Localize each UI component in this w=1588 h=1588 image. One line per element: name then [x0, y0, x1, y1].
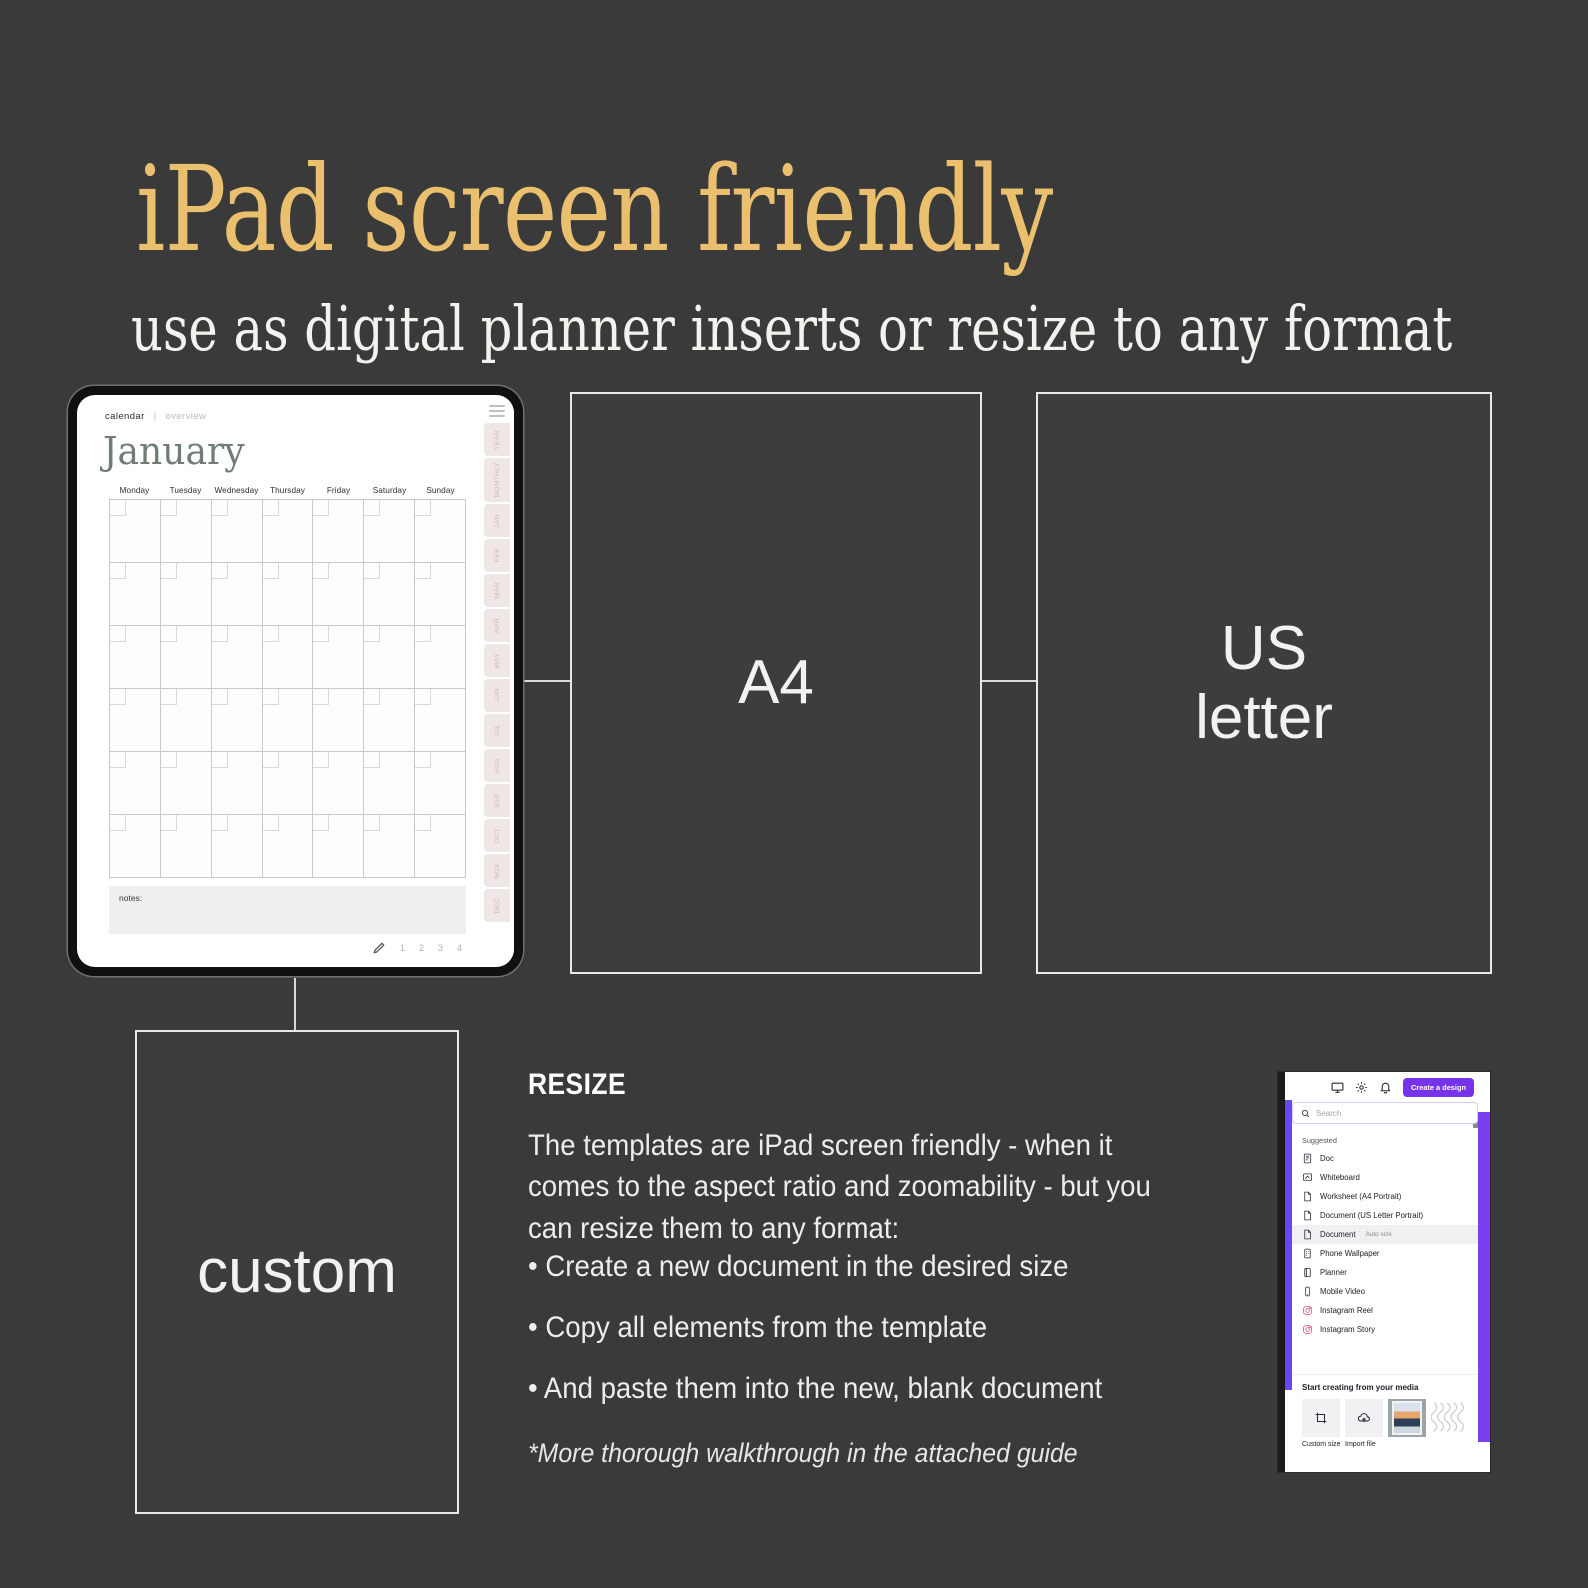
- month-tab-apr[interactable]: APR: [484, 609, 510, 642]
- list-item[interactable]: Document (US Letter Portrait): [1292, 1206, 1478, 1225]
- pencil-icon[interactable]: [372, 941, 386, 955]
- calendar-day-cell[interactable]: [212, 815, 263, 878]
- canva-app-window: Create a design Search Suggested DocWhit…: [1278, 1072, 1490, 1472]
- resize-paragraph: The templates are iPad screen friendly -…: [528, 1125, 1172, 1249]
- weekday-header-row: Monday Tuesday Wednesday Thursday Friday…: [109, 486, 466, 495]
- weekday-label: Monday: [109, 486, 160, 495]
- month-title: January: [103, 432, 452, 470]
- weekday-label: Thursday: [262, 486, 313, 495]
- breadcrumb-separator: |: [154, 411, 157, 422]
- media-thumbnails: [1302, 1399, 1478, 1437]
- calendar-day-cell[interactable]: [313, 563, 364, 626]
- connector-a4-to-usletter: [978, 680, 1038, 682]
- list-item-label: Doc: [1320, 1154, 1334, 1163]
- canva-toolbar: Create a design: [1292, 1072, 1478, 1102]
- whiteboard-icon: [1302, 1172, 1313, 1183]
- calendar-day-cell[interactable]: [364, 563, 415, 626]
- month-tab-label: MAY: [494, 653, 501, 668]
- list-item-label: Document (US Letter Portrait): [1320, 1211, 1423, 1220]
- ipad-screen: calendar | overview January Monday Tuesd…: [77, 395, 514, 967]
- hamburger-menu-icon[interactable]: [489, 405, 505, 417]
- calendar-day-cell[interactable]: [415, 500, 466, 563]
- calendar-day-cell[interactable]: [212, 689, 263, 752]
- connector-ipad-to-a4: [523, 680, 572, 682]
- calendar-day-cell[interactable]: [263, 815, 314, 878]
- format-box-custom[interactable]: custom: [135, 1030, 459, 1514]
- list-item-sublabel: Auto size: [1366, 1231, 1392, 1238]
- list-item-label: Instagram Reel: [1320, 1306, 1373, 1315]
- search-input[interactable]: Search: [1292, 1102, 1478, 1124]
- weekday-label: Tuesday: [160, 486, 211, 495]
- month-tab-label: MAR: [494, 582, 501, 598]
- calendar-day-cell[interactable]: [161, 563, 212, 626]
- month-tab-year[interactable]: YEAR: [484, 423, 510, 456]
- photo-preview: [1392, 1401, 1422, 1435]
- list-item[interactable]: Planner: [1292, 1263, 1478, 1282]
- calendar-day-cell[interactable]: [161, 500, 212, 563]
- canva-left-accent-bar: [1285, 1100, 1292, 1390]
- calendar-day-cell[interactable]: [263, 689, 314, 752]
- calendar-day-cell[interactable]: [161, 752, 212, 815]
- media-photo-thumbnail[interactable]: [1388, 1399, 1426, 1437]
- wallpaper-icon: [1302, 1248, 1313, 1259]
- search-icon: [1301, 1109, 1310, 1118]
- planner-icon: [1302, 1267, 1313, 1278]
- list-item-label: Instagram Story: [1320, 1325, 1375, 1334]
- resize-heading: RESIZE: [528, 1068, 626, 1102]
- planner-page: calendar | overview January Monday Tuesd…: [77, 395, 480, 967]
- month-tab-label: OCT: [494, 828, 501, 843]
- page-icon: [1302, 1210, 1313, 1221]
- section-label: Suggested: [1292, 1133, 1478, 1149]
- calendar-day-cell[interactable]: [161, 689, 212, 752]
- weekday-label: Friday: [313, 486, 364, 495]
- doc-icon: [1302, 1153, 1313, 1164]
- page-number[interactable]: 2: [419, 943, 424, 953]
- weekday-label: Wednesday: [211, 486, 262, 495]
- month-tab-label: MONTHLY: [494, 462, 501, 497]
- page-number[interactable]: 3: [438, 943, 443, 953]
- month-tab-monthly[interactable]: MONTHLY: [484, 458, 510, 502]
- list-item: • And paste them into the new, blank doc…: [528, 1374, 1227, 1404]
- calendar-day-cell[interactable]: [415, 689, 466, 752]
- month-tab-aug[interactable]: AUG: [484, 749, 510, 782]
- resize-bullet-list: • Create a new document in the desired s…: [528, 1252, 1288, 1435]
- month-tab-label: APR: [494, 618, 501, 633]
- instagram-icon: [1302, 1305, 1313, 1316]
- month-tab-label: FEB: [494, 548, 501, 562]
- media-section-title: Start creating from your media: [1302, 1383, 1478, 1392]
- month-tab-jul[interactable]: JUL: [484, 714, 510, 747]
- list-item[interactable]: Doc: [1292, 1149, 1478, 1168]
- media-action-labels: Custom size Import file: [1302, 1441, 1478, 1448]
- month-tab-sep[interactable]: SEP: [484, 784, 510, 817]
- list-item-label: Worksheet (A4 Portrait): [1320, 1192, 1401, 1201]
- list-item[interactable]: Worksheet (A4 Portrait): [1292, 1187, 1478, 1206]
- calendar-day-cell[interactable]: [110, 689, 161, 752]
- month-tab-mar[interactable]: MAR: [484, 574, 510, 607]
- month-tab-label: SEP: [494, 793, 501, 808]
- list-item-label: Document: [1320, 1230, 1356, 1239]
- calendar-day-cell[interactable]: [263, 500, 314, 563]
- calendar-day-cell[interactable]: [110, 752, 161, 815]
- format-label-us-line2: letter: [1195, 683, 1333, 752]
- calendar-day-cell[interactable]: [110, 815, 161, 878]
- month-tab-jan[interactable]: JAN: [484, 504, 510, 537]
- calendar-grid: [109, 499, 466, 878]
- calendar-day-cell[interactable]: [263, 752, 314, 815]
- breadcrumb-secondary[interactable]: overview: [166, 411, 207, 422]
- format-label-us-line1: US: [1195, 614, 1333, 683]
- suggested-list: Suggested DocWhiteboardWorksheet (A4 Por…: [1292, 1128, 1478, 1374]
- list-item[interactable]: Phone Wallpaper: [1292, 1244, 1478, 1263]
- calendar-day-cell[interactable]: [263, 563, 314, 626]
- ipad-mockup: calendar | overview January Monday Tuesd…: [68, 386, 523, 976]
- calendar-day-cell[interactable]: [415, 752, 466, 815]
- connector-ipad-to-custom: [294, 978, 296, 1032]
- calendar-day-cell[interactable]: [415, 815, 466, 878]
- notes-box[interactable]: notes:: [109, 886, 466, 934]
- media-section: Start creating from your media: [1292, 1374, 1478, 1472]
- calendar-day-cell[interactable]: [415, 626, 466, 689]
- breadcrumb-primary[interactable]: calendar: [105, 411, 145, 422]
- list-item: • Create a new document in the desired s…: [528, 1252, 1227, 1282]
- format-box-a4[interactable]: A4: [570, 392, 982, 974]
- poster-canvas: iPad screen friendly use as digital plan…: [0, 0, 1588, 1588]
- calendar-day-cell[interactable]: [364, 689, 415, 752]
- calendar-day-cell[interactable]: [161, 815, 212, 878]
- list-item-label: Planner: [1320, 1268, 1347, 1277]
- calendar-day-cell[interactable]: [313, 815, 364, 878]
- calendar-day-cell[interactable]: [313, 500, 364, 563]
- format-label-a4: A4: [738, 648, 814, 717]
- gear-icon[interactable]: [1355, 1081, 1368, 1094]
- mobile-video-icon: [1302, 1286, 1313, 1297]
- calendar-day-cell[interactable]: [313, 689, 364, 752]
- list-item[interactable]: Mobile Video: [1292, 1282, 1478, 1301]
- page-indicator-row: 1 2 3 4: [109, 941, 462, 955]
- search-placeholder: Search: [1316, 1109, 1341, 1118]
- month-tab-jun[interactable]: JUN: [484, 679, 510, 712]
- month-tab-rail: YEARMONTHLYJANFEBMARAPRMAYJUNJULAUGSEPOC…: [480, 395, 514, 967]
- instagram-icon: [1302, 1324, 1313, 1335]
- list-item-label: Phone Wallpaper: [1320, 1249, 1380, 1258]
- page-title: iPad screen friendly: [136, 148, 1166, 272]
- month-tab-dec[interactable]: DEC: [484, 889, 510, 922]
- calendar-day-cell[interactable]: [212, 752, 263, 815]
- list-item-label: Mobile Video: [1320, 1287, 1365, 1296]
- calendar-day-cell[interactable]: [364, 752, 415, 815]
- month-tab-nov[interactable]: NOV: [484, 854, 510, 887]
- list-item[interactable]: Whiteboard: [1292, 1168, 1478, 1187]
- calendar-day-cell[interactable]: [110, 500, 161, 563]
- page-icon: [1302, 1191, 1313, 1202]
- breadcrumb: calendar | overview: [105, 411, 470, 422]
- calendar-day-cell[interactable]: [364, 815, 415, 878]
- month-tab-label: JUN: [494, 688, 501, 702]
- list-item[interactable]: Instagram Story: [1292, 1320, 1478, 1339]
- monitor-icon[interactable]: [1331, 1081, 1344, 1094]
- page-number[interactable]: 1: [400, 943, 405, 953]
- list-item[interactable]: DocumentAuto size: [1292, 1225, 1478, 1244]
- page-number[interactable]: 4: [457, 943, 462, 953]
- weekday-label: Sunday: [415, 486, 466, 495]
- calendar-day-cell[interactable]: [364, 626, 415, 689]
- notes-label: notes:: [119, 893, 142, 903]
- custom-size-label: Custom size: [1302, 1441, 1340, 1448]
- import-file-button[interactable]: [1345, 1399, 1383, 1437]
- calendar-day-cell[interactable]: [110, 563, 161, 626]
- calendar-day-cell[interactable]: [110, 626, 161, 689]
- month-tab-label: YEAR: [494, 430, 501, 450]
- month-tab-label: DEC: [494, 898, 501, 913]
- month-tab-label: AUG: [494, 758, 501, 774]
- month-tab-oct[interactable]: OCT: [484, 819, 510, 852]
- design-type-list: DocWhiteboardWorksheet (A4 Portrait)Docu…: [1292, 1149, 1478, 1339]
- month-tab-feb[interactable]: FEB: [484, 539, 510, 572]
- calendar-day-cell[interactable]: [313, 626, 364, 689]
- calendar-day-cell[interactable]: [415, 563, 466, 626]
- month-tab-may[interactable]: MAY: [484, 644, 510, 677]
- month-tab-label: NOV: [494, 863, 501, 879]
- month-tab-label: JUL: [494, 724, 501, 737]
- list-item[interactable]: Instagram Reel: [1292, 1301, 1478, 1320]
- wave-pattern-thumbnail[interactable]: [1431, 1399, 1469, 1437]
- bell-icon[interactable]: [1379, 1081, 1392, 1094]
- resize-footnote: *More thorough walkthrough in the attach…: [528, 1438, 1078, 1469]
- calendar-day-cell[interactable]: [313, 752, 364, 815]
- format-box-us-letter[interactable]: US letter: [1036, 392, 1492, 974]
- cloud-upload-icon: [1357, 1411, 1371, 1425]
- calendar-day-cell[interactable]: [161, 626, 212, 689]
- page-subtitle: use as digital planner inserts or resize…: [131, 295, 1251, 363]
- calendar-day-cell[interactable]: [263, 626, 314, 689]
- calendar-day-cell[interactable]: [212, 626, 263, 689]
- custom-size-button[interactable]: [1302, 1399, 1340, 1437]
- list-item: • Copy all elements from the template: [528, 1313, 1227, 1343]
- list-item-label: Whiteboard: [1320, 1173, 1360, 1182]
- page-icon: [1302, 1229, 1313, 1240]
- canva-right-accent-bar: [1478, 1112, 1490, 1442]
- window-left-edge: [1278, 1072, 1285, 1472]
- calendar-day-cell[interactable]: [364, 500, 415, 563]
- month-tab-label: JAN: [494, 514, 501, 528]
- format-label-us-letter: US letter: [1195, 614, 1333, 753]
- weekday-label: Saturday: [364, 486, 415, 495]
- create-a-design-button[interactable]: Create a design: [1403, 1078, 1474, 1097]
- calendar-day-cell[interactable]: [212, 563, 263, 626]
- calendar-day-cell[interactable]: [212, 500, 263, 563]
- format-label-custom: custom: [197, 1237, 397, 1306]
- import-file-label: Import file: [1345, 1441, 1383, 1448]
- crop-icon: [1314, 1411, 1328, 1425]
